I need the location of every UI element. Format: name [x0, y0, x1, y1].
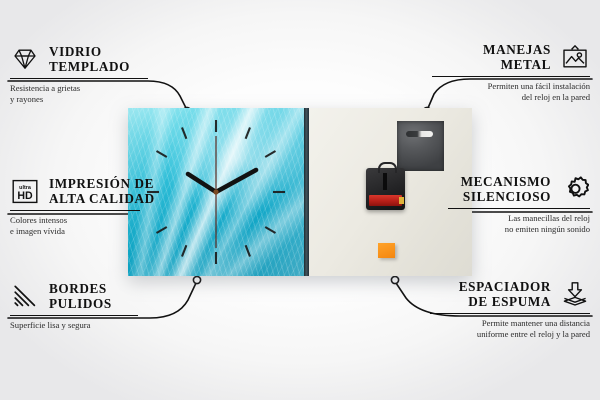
svg-text:HD: HD — [17, 190, 33, 202]
beveled-edge-icon — [10, 281, 40, 311]
callout-description: Las manecillas del reloj no emiten ningú… — [354, 213, 590, 236]
callout-title: MANEJAS METAL — [483, 42, 551, 73]
callout-rule — [448, 208, 590, 209]
callout-description: Superficie lisa y segura — [10, 320, 246, 331]
picture-frame-hanger-icon — [560, 42, 590, 72]
callout-title: IMPRESIÓN DE ALTA CALIDAD — [49, 176, 155, 207]
mechanism-hook — [378, 162, 397, 173]
infographic-canvas: VIDRIO TEMPLADO Resistencia a grietas y … — [0, 0, 600, 400]
foam-spacer — [378, 243, 395, 258]
callout-bordes-pulidos: BORDES PULIDOS Superficie lisa y segura — [10, 281, 246, 331]
callout-rule — [10, 210, 140, 211]
callout-rule — [432, 76, 590, 77]
callout-manejas-metal: MANEJAS METAL Permiten una fácil instala… — [354, 42, 590, 103]
callout-title: VIDRIO TEMPLADO — [49, 44, 130, 75]
callout-impresion-alta-calidad: ultra HD IMPRESIÓN DE ALTA CALIDAD Color… — [10, 176, 246, 237]
callout-description: Resistencia a grietas y rayones — [10, 83, 246, 106]
callout-mecanismo-silencioso: MECANISMO SILENCIOSO Las manecillas del … — [354, 174, 590, 235]
callout-vidrio-templado: VIDRIO TEMPLADO Resistencia a grietas y … — [10, 44, 246, 105]
callout-title: BORDES PULIDOS — [49, 281, 112, 312]
callout-espaciador-espuma: ESPACIADOR DE ESPUMA Permite mantener un… — [354, 279, 590, 340]
callout-title: MECANISMO SILENCIOSO — [461, 174, 551, 205]
gear-icon — [560, 174, 590, 204]
diamond-icon — [10, 44, 40, 74]
callout-rule — [10, 78, 148, 79]
callout-title: ESPACIADOR DE ESPUMA — [459, 279, 551, 310]
callout-rule — [10, 315, 138, 316]
callout-description: Permite mantener una distancia uniforme … — [354, 318, 590, 341]
callout-rule — [430, 313, 590, 314]
foam-spacer-icon — [560, 279, 590, 309]
ultra-hd-icon: ultra HD — [10, 176, 40, 206]
hanger-slot — [406, 131, 433, 137]
metal-hanger-plate — [397, 121, 444, 171]
callout-description: Colores intensos e imagen vívida — [10, 215, 246, 238]
callout-description: Permiten una fácil instalación del reloj… — [354, 81, 590, 104]
